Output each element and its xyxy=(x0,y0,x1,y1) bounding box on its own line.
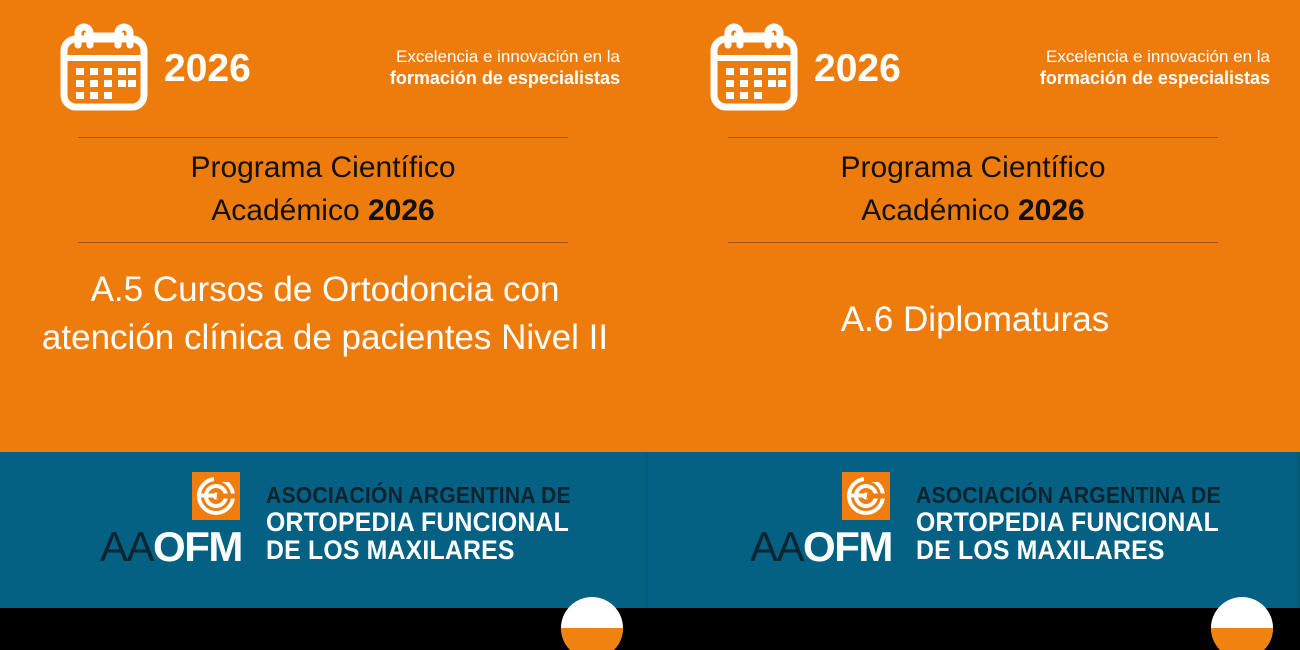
aaofm-wordmark-left: ASOCIACIÓN ARGENTINA DE ORTOPEDIA FUNCIO… xyxy=(266,484,597,564)
seam-circle-left-bottom-half xyxy=(561,628,623,650)
year-label-right: 2026 xyxy=(814,49,901,88)
program-line2-left: Académico 2026 xyxy=(78,190,568,233)
panel-seam-divider xyxy=(645,452,648,608)
aaofm-word-line3-left: DE LOS MAXILARES xyxy=(266,536,571,564)
aaofm-acronym-left: AAOFM xyxy=(100,526,242,568)
program-block-left: Programa Científico Académico 2026 xyxy=(78,137,568,243)
aaofm-orange-square-left xyxy=(192,472,240,520)
aaofm-acronym-aa-right: AA xyxy=(750,523,803,570)
aaofm-word-line1-right: ASOCIACIÓN ARGENTINA DE xyxy=(916,484,1221,508)
aaofm-word-line1-left: ASOCIACIÓN ARGENTINA DE xyxy=(266,484,571,508)
aaofm-acronym-aa-left: AA xyxy=(100,523,153,570)
aaofm-word-line2-left: ORTOPEDIA FUNCIONAL xyxy=(266,508,571,536)
aaofm-logo-mark-right: AAOFM xyxy=(750,472,868,584)
aaofm-word-line2-right: ORTOPEDIA FUNCIONAL xyxy=(916,508,1221,536)
program-line2-prefix-right: Académico xyxy=(861,194,1018,227)
calendar-icon xyxy=(708,23,800,113)
course-title-right: A.6 Diplomaturas xyxy=(680,296,1270,344)
calendar-icon-wrap-left xyxy=(50,23,158,113)
year-label-left: 2026 xyxy=(164,49,251,88)
aaofm-orange-square-right xyxy=(842,472,890,520)
aaofm-acronym-right: AAOFM xyxy=(750,526,892,568)
aaofm-acronym-ofm-left: OFM xyxy=(153,523,242,570)
panel-header-left: 2026 Excelencia e innovación en la forma… xyxy=(0,18,650,118)
tagline-line1-left: Excelencia e innovación en la xyxy=(390,46,620,68)
tagline-line2-right: formación de especialistas xyxy=(1040,67,1270,90)
panel-header-right: 2026 Excelencia e innovación en la forma… xyxy=(650,18,1300,118)
program-line1-left: Programa Científico xyxy=(78,147,568,190)
aaofm-acronym-ofm-right: OFM xyxy=(803,523,892,570)
concentric-target-icon xyxy=(842,472,890,520)
panel-right: 2026 Excelencia e innovación en la forma… xyxy=(650,0,1300,452)
seam-circle-right xyxy=(1211,597,1273,650)
black-bottom-strip xyxy=(0,608,1300,650)
seam-circle-right-bottom-half xyxy=(1211,628,1273,650)
aaofm-word-line3-right: DE LOS MAXILARES xyxy=(916,536,1221,564)
calendar-icon-wrap-right xyxy=(700,23,808,113)
tagline-line1-right: Excelencia e innovación en la xyxy=(1040,46,1270,68)
course-title-left: A.5 Cursos de Ortodoncia con atención cl… xyxy=(30,266,620,362)
calendar-icon xyxy=(58,23,150,113)
panel-left: 2026 Excelencia e innovación en la forma… xyxy=(0,0,650,452)
tagline-right: Excelencia e innovación en la formación … xyxy=(1040,46,1270,91)
program-line2-prefix-left: Académico xyxy=(211,194,368,227)
seam-circle-left xyxy=(561,597,623,650)
aaofm-wordmark-right: ASOCIACIÓN ARGENTINA DE ORTOPEDIA FUNCIO… xyxy=(916,484,1247,564)
program-line1-right: Programa Científico xyxy=(728,147,1218,190)
program-line2-right: Académico 2026 xyxy=(728,190,1218,233)
concentric-target-icon xyxy=(192,472,240,520)
program-line2-year-right: 2026 xyxy=(1018,194,1085,227)
aaofm-logo-left: AAOFM ASOCIACIÓN ARGENTINA DE ORTOPEDIA … xyxy=(100,472,597,592)
program-block-right: Programa Científico Académico 2026 xyxy=(728,137,1218,243)
program-line2-year-left: 2026 xyxy=(368,194,435,227)
aaofm-logo-right: AAOFM ASOCIACIÓN ARGENTINA DE ORTOPEDIA … xyxy=(750,472,1247,592)
aaofm-logo-mark-left: AAOFM xyxy=(100,472,218,584)
slide-canvas: 2026 Excelencia e innovación en la forma… xyxy=(0,0,1300,650)
tagline-line2-left: formación de especialistas xyxy=(390,67,620,90)
tagline-left: Excelencia e innovación en la formación … xyxy=(390,46,620,91)
